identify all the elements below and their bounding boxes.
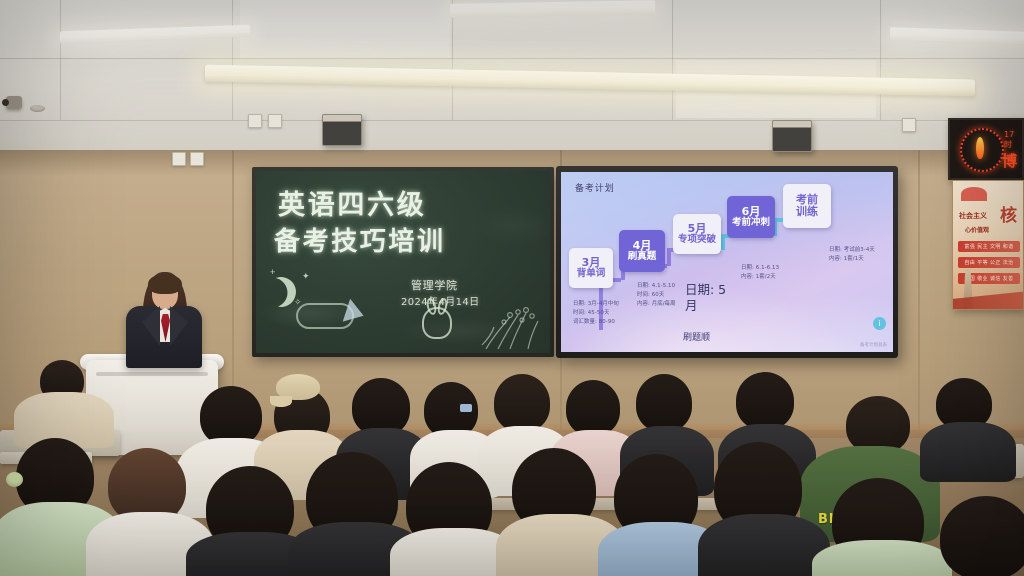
wall-plate-3[interactable] — [248, 114, 262, 128]
podium-lip — [96, 372, 208, 376]
audience-hair-clip — [460, 404, 472, 412]
poster-band-1: 富强 民主 文明 和谐 — [958, 241, 1020, 252]
wall-speaker-left — [322, 114, 362, 146]
slide-step-card-3: 5月 专项突破 — [673, 214, 721, 254]
audience-shoulders — [920, 422, 1016, 482]
ceiling-light-1 — [60, 25, 250, 44]
slide-step-detail-4: 日期: 6.1-6.13 内容: 1套/2天 — [741, 264, 779, 282]
slide-step-detail-1: 日期: 3月-4月中旬 时间: 45-50天 词汇数量: 80-90 — [573, 300, 619, 327]
slide-title: 备考计划 — [575, 181, 615, 194]
blackboard-signature: 管理学院 — [411, 277, 458, 293]
smoke-detector — [30, 105, 45, 112]
wall-plate-2[interactable] — [190, 152, 204, 166]
slide-step-card-2: 4月 刷真题 — [619, 230, 665, 272]
audience-head — [566, 380, 620, 436]
slide-center-note-line1: 日期: 5 — [685, 282, 726, 298]
ceiling-light-2 — [450, 0, 655, 18]
slide-step-detail-2: 日期: 4.1-5.10 时间: 60天 内容: 月底/每周 — [637, 282, 676, 309]
wall-plate-5[interactable] — [902, 118, 916, 132]
slide-watermark: 备考计划总表 — [860, 342, 887, 348]
led-scrolling-sign: 17时 博 — [948, 118, 1024, 180]
poster-sun-icon — [961, 187, 987, 201]
wall-speaker-right — [772, 120, 812, 152]
slide-bottom-note: 刷题顺 — [683, 330, 710, 343]
core-values-poster: 社会主义 核 心价值观 富强 民主 文明 和谐 自由 平等 公正 法治 爱国 敬… — [952, 180, 1024, 310]
audience-head — [494, 374, 550, 432]
blackboard: 英语四六级 备考技巧培训 管理学院 2024年4月14日 ✦ ✧ + — [252, 167, 554, 357]
audience-head — [940, 496, 1024, 576]
poster-subheading: 心价值观 — [965, 225, 989, 234]
audience-cap-brim — [270, 396, 292, 407]
slide-step-card-5: 考前 训练 — [783, 184, 831, 228]
led-flame-icon — [976, 137, 984, 159]
security-camera-icon — [6, 96, 22, 109]
led-text-large: 博 — [1002, 150, 1017, 171]
poster-flag-icon — [952, 287, 1024, 309]
flower-doodle-icon — [476, 299, 542, 349]
wall-mounted-display: 备考计划 3月 背单词 日期: 3月-4月中旬 时间: 45-50天 词汇数量:… — [556, 166, 898, 358]
poster-band-2: 自由 平等 公正 法治 — [958, 257, 1020, 268]
slide-center-note-line2: 月 — [685, 298, 698, 314]
ceiling-light-3 — [890, 27, 1024, 46]
bunny-doodle-icon — [422, 307, 452, 339]
lecture-hall-photo: 英语四六级 备考技巧培训 管理学院 2024年4月14日 ✦ ✧ + — [0, 0, 1024, 576]
poster-heading: 社会主义 — [959, 211, 987, 221]
blackboard-title-line1: 英语四六级 — [278, 183, 427, 222]
poster-big-char: 核 — [1000, 201, 1017, 226]
wall-plate-1[interactable] — [172, 152, 186, 166]
audience-head — [736, 372, 794, 430]
slide-badge-icon: i — [873, 317, 886, 330]
led-text-small: 17时 — [1004, 130, 1022, 150]
audience-scrunchie — [6, 472, 23, 487]
sparkle-icon: + — [270, 267, 275, 277]
audience-head — [636, 374, 692, 432]
blackboard-title-line2: 备考技巧培训 — [274, 221, 446, 258]
presenter-hair-front — [148, 274, 182, 294]
sparkle-icon: ✦ — [302, 271, 310, 282]
audience-head — [200, 386, 262, 446]
audience-shoulders — [698, 514, 830, 576]
presentation-slide: 备考计划 3月 背单词 日期: 3月-4月中旬 时间: 45-50天 词汇数量:… — [561, 172, 893, 352]
slide-step-card-4: 6月 考前冲刺 — [727, 196, 775, 238]
slide-step-card-1: 3月 背单词 — [569, 248, 613, 288]
wall-plate-4[interactable] — [268, 114, 282, 128]
audience-shoulders — [812, 540, 952, 576]
slide-step-detail-5: 日期: 考试前3-4天 内容: 1套/1天 — [829, 246, 875, 264]
